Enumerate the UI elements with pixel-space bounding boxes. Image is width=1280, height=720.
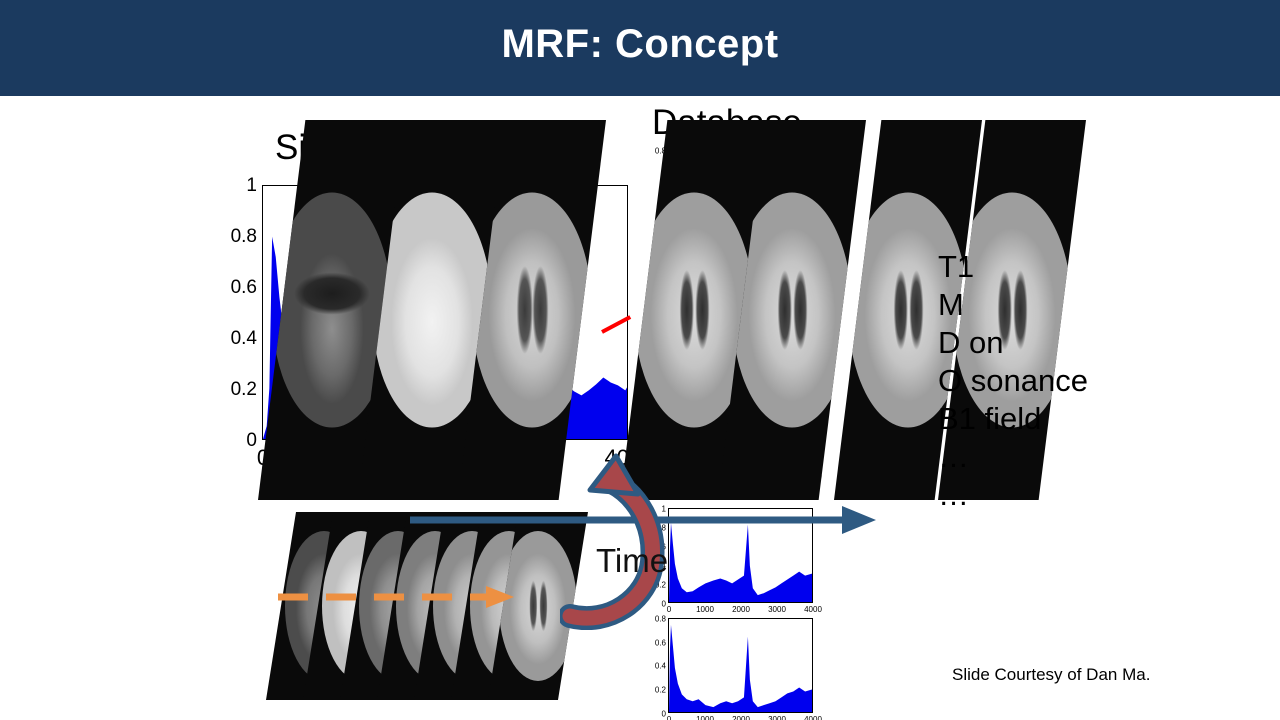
database-plot-5-canvas (669, 619, 812, 712)
param-item-5: … (938, 438, 1088, 476)
db5-x-tick-2000: 2000 (732, 715, 750, 720)
param-item-6: … (938, 476, 1088, 514)
blue-arrow-head (842, 506, 876, 534)
slide-canvas: MRF: Concept Signal Evolution Database 0… (0, 0, 1280, 720)
slide-credit: Slide Courtesy of Dan Ma. (952, 665, 1150, 685)
database-trace-5 (669, 619, 812, 712)
database-plot-5: 0.8 0.6 0.4 0.2 0 0 1000 2000 3000 4000 (668, 618, 813, 713)
db4-x-tick-3000: 3000 (768, 605, 786, 614)
y-tick-1: 1 (229, 175, 257, 197)
db4-x-tick-4000: 4000 (804, 605, 822, 614)
param-item-1: M (938, 286, 1088, 324)
db5-x-tick-3000: 3000 (768, 715, 786, 720)
y-tick-02: 0.2 (219, 379, 257, 401)
param-item-3: O sonance (938, 362, 1088, 400)
db4-x-tick-2000: 2000 (732, 605, 750, 614)
db4-x-tick-1000: 1000 (696, 605, 714, 614)
param-item-2: D on (938, 324, 1088, 362)
page-title: MRF: Concept (0, 22, 1280, 67)
db5-x-tick-0: 0 (667, 715, 671, 720)
db5-y-tick-06: 0.6 (647, 639, 666, 648)
db5-y-tick-02: 0.2 (647, 686, 666, 695)
db5-x-tick-1000: 1000 (696, 715, 714, 720)
param-item-0: T1 (938, 248, 1088, 286)
y-tick-06: 0.6 (219, 277, 257, 299)
db5-x-tick-4000: 4000 (804, 715, 822, 720)
y-tick-04: 0.4 (219, 328, 257, 350)
db5-y-tick-04: 0.4 (647, 662, 666, 671)
db5-y-tick-0: 0 (653, 710, 666, 719)
param-item-4: B1 field (938, 400, 1088, 438)
orange-time-arrow (270, 575, 520, 619)
parameter-list: T1 M D on O sonance B1 field … … (938, 248, 1088, 514)
red-arrow-head (590, 456, 638, 494)
red-curved-arrow (560, 450, 690, 630)
title-bar: MRF: Concept (0, 0, 1280, 96)
time-label: Time (596, 542, 668, 580)
y-tick-08: 0.8 (219, 226, 257, 248)
y-tick-0: 0 (229, 430, 257, 452)
orange-arrow-head (486, 586, 514, 608)
